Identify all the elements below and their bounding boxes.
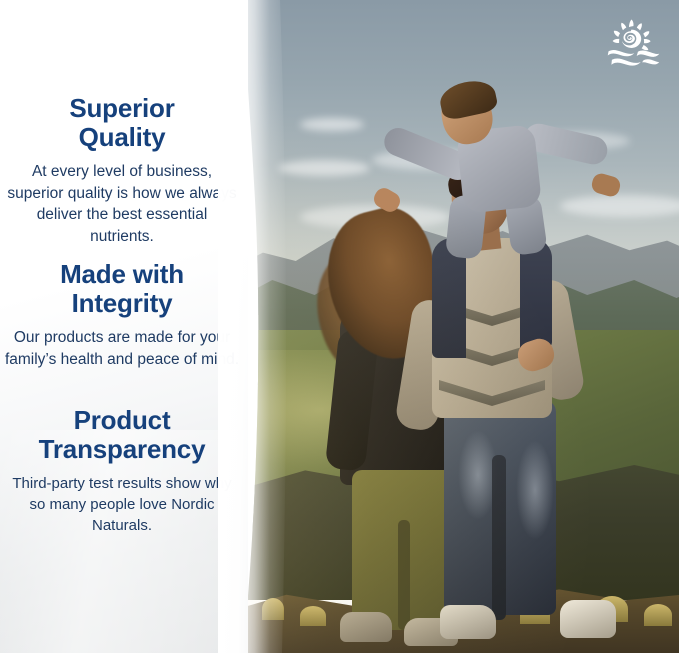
promo-banner: SuperiorQuality At every level of busine… (0, 0, 679, 653)
text-panel: SuperiorQuality At every level of busine… (0, 0, 248, 653)
value-body: Third-party test results show why so man… (4, 473, 240, 536)
value-heading: SuperiorQuality (4, 94, 240, 152)
denim-highlight (516, 440, 554, 540)
sun-wave-logo-icon (604, 18, 660, 68)
father-shoe-left (440, 605, 496, 639)
heading-line-2: Integrity (72, 288, 173, 318)
grass-tuft (262, 598, 284, 620)
value-body: At every level of business, superior qua… (4, 161, 240, 247)
value-block-superior-quality: SuperiorQuality At every level of busine… (4, 94, 240, 247)
heading-line-1: Superior (69, 93, 174, 123)
grass-tuft (644, 604, 672, 626)
value-block-made-with-integrity: Made withIntegrity Our products are made… (4, 260, 240, 370)
cloud (278, 160, 370, 176)
heading-line-2: Transparency (39, 434, 206, 464)
value-heading: ProductTransparency (4, 406, 240, 464)
father-leg-separation (492, 455, 506, 620)
value-heading: Made withIntegrity (4, 260, 240, 318)
mother-shoe-left (340, 612, 392, 642)
mother-leg-separation (398, 520, 410, 630)
father-shoe-right (560, 600, 616, 638)
cloud (300, 118, 364, 131)
cloud (560, 195, 679, 217)
heading-line-2: Quality (79, 122, 166, 152)
value-body: Our products are made for your family’s … (4, 327, 240, 370)
father-vest-shoulder-right (520, 238, 552, 348)
heading-line-1: Made with (60, 259, 184, 289)
grass-tuft (300, 606, 326, 626)
heading-line-1: Product (74, 405, 171, 435)
value-block-product-transparency: ProductTransparency Third-party test res… (4, 406, 240, 536)
